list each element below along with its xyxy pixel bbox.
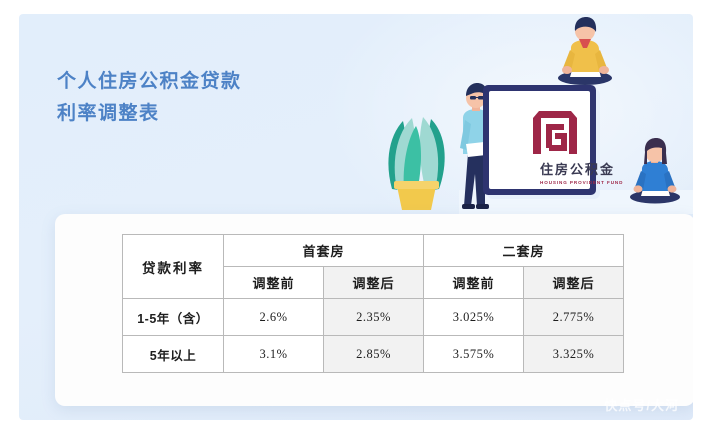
table-cell-value: 2.6% [224, 299, 324, 336]
person-standing-icon [460, 83, 531, 209]
table-cell-value: 3.575% [424, 336, 524, 373]
table-subheader-first-before: 调整前 [224, 267, 324, 299]
person-sitting-top-icon [558, 17, 612, 85]
logo-card [483, 85, 600, 199]
table-header-row-groups: 贷款利率 首套房 二套房 [123, 235, 624, 267]
table-cell-value: 2.775% [524, 299, 624, 336]
potted-plant-icon [388, 117, 444, 210]
poster-root: 个人住房公积金贷款 利率调整表 [0, 0, 712, 434]
logo-name-en: HOUSING PROVIDENT FUND [540, 180, 623, 185]
table-cell-value: 3.1% [224, 336, 324, 373]
table-row: 5年以上 3.1% 2.85% 3.575% 3.325% [123, 336, 624, 373]
table-card: 贷款利率 首套房 二套房 调整前 调整后 调整前 调整后 1-5年（含） 2.6… [55, 214, 693, 406]
table-cell-value: 3.325% [524, 336, 624, 373]
table-row-label: 1-5年（含） [123, 299, 224, 336]
page-title: 个人住房公积金贷款 利率调整表 [57, 66, 357, 130]
logo-name-cn: 住房公积金 [540, 162, 615, 177]
blue-background-panel: 个人住房公积金贷款 利率调整表 [19, 14, 693, 420]
page-title-line1: 个人住房公积金贷款 [57, 66, 357, 98]
table-subheader-second-after: 调整后 [524, 267, 624, 299]
table-subheader-second-before: 调整前 [424, 267, 524, 299]
table-row: 1-5年（含） 2.6% 2.35% 3.025% 2.775% [123, 299, 624, 336]
table-cell-value: 2.35% [324, 299, 424, 336]
rate-adjustment-table: 贷款利率 首套房 二套房 调整前 调整后 调整前 调整后 1-5年（含） 2.6… [122, 234, 624, 373]
table-cell-value: 2.85% [324, 336, 424, 373]
table-corner-header: 贷款利率 [123, 235, 224, 299]
person-sitting-right-icon [630, 138, 680, 204]
table-subheader-first-after: 调整后 [324, 267, 424, 299]
table-cell-value: 3.025% [424, 299, 524, 336]
table-group-header-second-home: 二套房 [424, 235, 624, 267]
table-group-header-first-home: 首套房 [224, 235, 424, 267]
watermark-text: 快点号/大河 [604, 395, 679, 414]
table-row-label: 5年以上 [123, 336, 224, 373]
housing-provident-fund-mark-icon [533, 111, 577, 154]
page-title-line2: 利率调整表 [57, 98, 357, 130]
